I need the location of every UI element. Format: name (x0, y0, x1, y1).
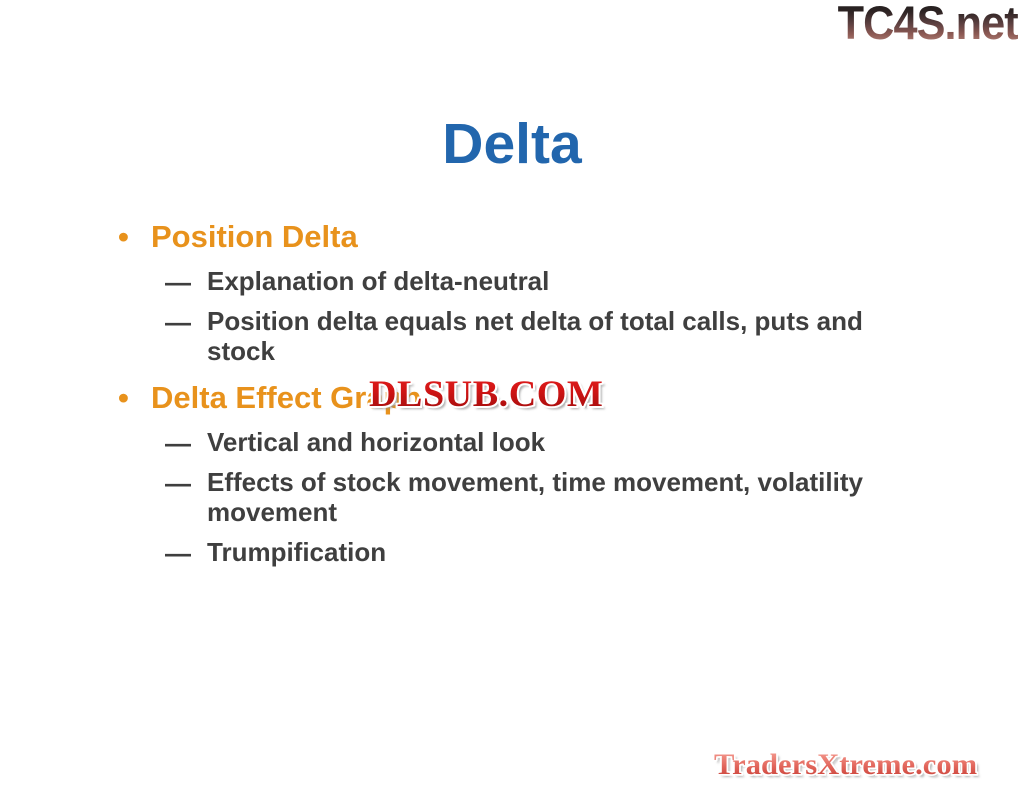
sub-bullet-label-2-2: Effects of stock movement, time movement… (207, 467, 863, 527)
watermark-dlsub: DLSUB.COM DLSUB.COM (369, 373, 603, 416)
bullet-label-1: Position Delta (151, 219, 358, 254)
watermark-tradersxtreme-fill: TradersXtreme.com (714, 748, 977, 781)
bullet-item-1: • Position Delta (0, 219, 1024, 256)
sub-bullet-item-2-1: — Vertical and horizontal look (0, 427, 1024, 457)
slide-canvas: TC4S.net Delta • Position Delta — Explan… (0, 0, 1024, 791)
sub-bullet-item-1-2: — Position delta equals net delta of tot… (0, 306, 1024, 366)
bullet-dot-icon: • (118, 219, 129, 256)
sub-bullet-label-1-1: Explanation of delta-neutral (207, 266, 549, 296)
sub-bullet-item-2-3: — Trumpification (0, 537, 1024, 567)
watermark-tc4s: TC4S.net (838, 0, 1018, 47)
em-dash-icon: — (165, 428, 194, 458)
watermark-tradersxtreme: TradersXtreme.com TradersXtreme.com (714, 748, 977, 782)
em-dash-icon: — (165, 468, 194, 498)
watermark-dlsub-fill: DLSUB.COM (369, 374, 603, 415)
sub-bullet-label-2-1: Vertical and horizontal look (207, 427, 545, 457)
page-title: Delta (0, 113, 1024, 176)
em-dash-icon: — (165, 307, 194, 337)
sub-bullet-label-1-2: Position delta equals net delta of total… (207, 306, 863, 366)
em-dash-icon: — (165, 538, 194, 568)
sub-bullet-item-1-1: — Explanation of delta-neutral (0, 266, 1024, 296)
sub-bullet-item-2-2: — Effects of stock movement, time moveme… (0, 467, 1024, 527)
bullet-dot-icon: • (118, 380, 129, 417)
em-dash-icon: — (165, 267, 194, 297)
sub-bullet-label-2-3: Trumpification (207, 537, 386, 567)
